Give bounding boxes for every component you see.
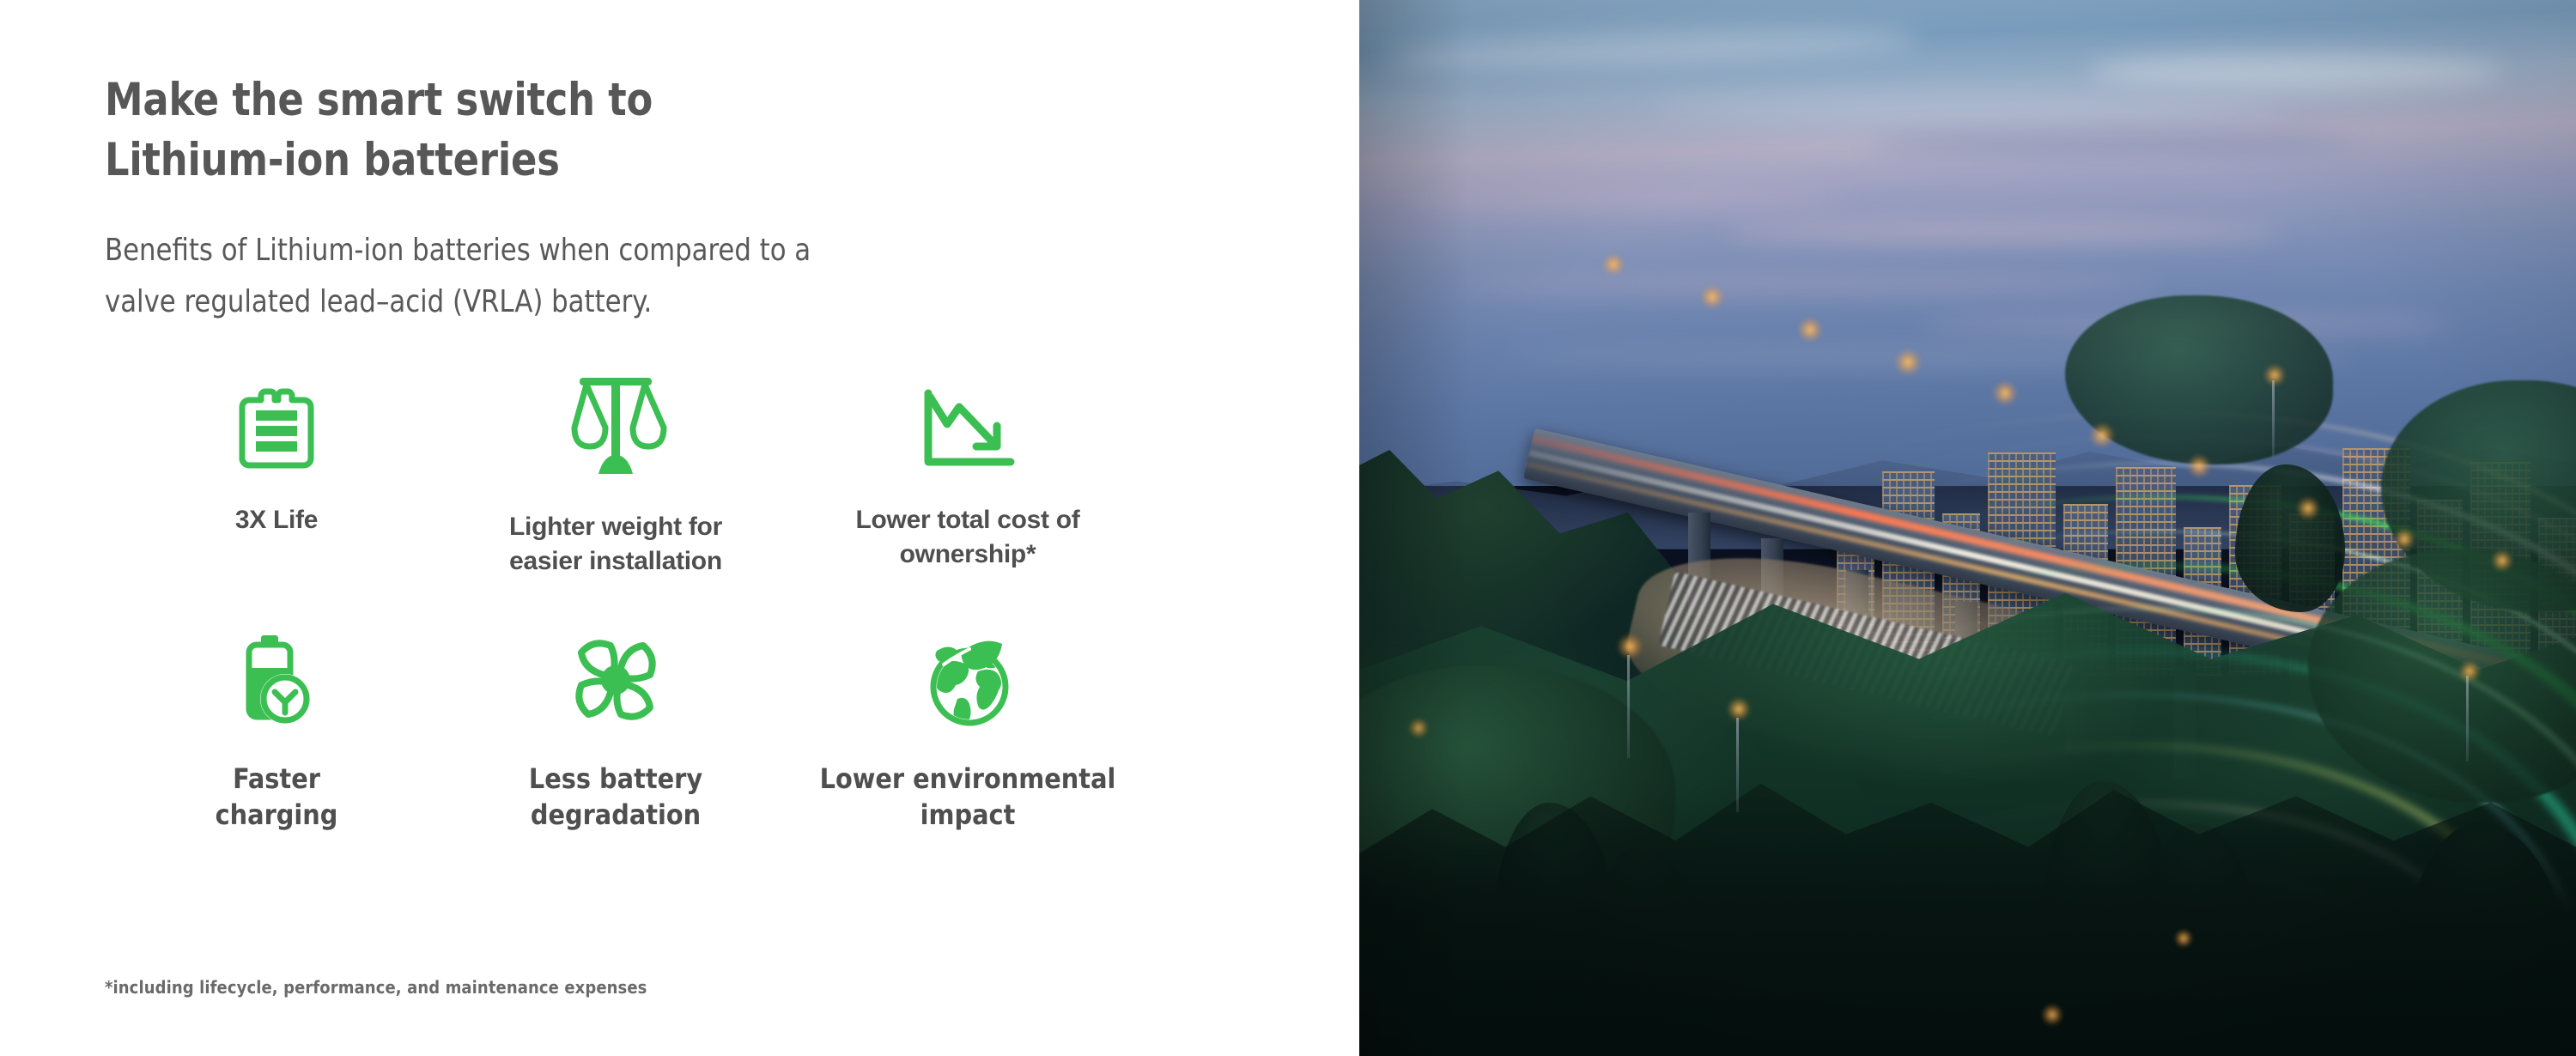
icon-container xyxy=(232,627,321,730)
benefit-item-lighter-weight: Lighter weight for easier installation xyxy=(448,369,783,578)
globe-leaf-icon xyxy=(918,634,1018,730)
battery-clock-icon xyxy=(232,634,321,730)
cloud xyxy=(1870,132,2357,155)
page-title: Make the smart switch to Lithium-ion bat… xyxy=(105,70,1073,191)
subtitle-text: Benefits of Lithium-ion batteries when c… xyxy=(105,225,1067,329)
cloud xyxy=(2089,53,2503,89)
icon-container xyxy=(566,627,665,730)
content-panel: Make the smart switch to Lithium-ion bat… xyxy=(0,0,1361,1056)
street-lamp-pole xyxy=(2466,676,2469,762)
battery-three-bars-icon xyxy=(235,383,318,472)
marketing-slide: Make the smart switch to Lithium-ion bat… xyxy=(0,0,2576,1056)
hero-photograph xyxy=(1359,0,2576,1056)
benefit-item-faster-charging: Faster charging xyxy=(105,627,448,833)
benefit-item-lower-environmental-impact: Lower environmental impact xyxy=(783,627,1152,833)
benefit-label: Lighter weight for easier installation xyxy=(509,510,722,578)
cloud xyxy=(1651,95,2284,121)
benefit-label: Lower total cost of ownership* xyxy=(856,503,1080,571)
footnote-text: *including lifecycle, performance, and m… xyxy=(105,977,647,998)
street-lamp-pole xyxy=(2272,380,2275,458)
declining-chart-arrow-icon xyxy=(918,388,1018,472)
benefits-grid: 3X Life xyxy=(105,369,1152,867)
benefit-label: Faster charging xyxy=(216,761,338,833)
icon-container xyxy=(559,369,672,479)
icon-container xyxy=(918,369,1018,472)
icon-container xyxy=(918,627,1018,730)
cloud xyxy=(1456,275,2162,294)
benefit-item-3x-life: 3X Life xyxy=(105,369,448,537)
street-lamp-pole xyxy=(1627,655,1630,758)
four-petal-flower-icon xyxy=(566,634,665,730)
balance-scale-icon xyxy=(559,371,672,479)
benefits-row-2: Faster charging xyxy=(105,627,1152,867)
street-lamp-pole xyxy=(1736,718,1739,812)
benefits-row-1: 3X Life xyxy=(105,369,1152,627)
benefit-label: 3X Life xyxy=(235,503,318,537)
benefit-label: Lower environmental impact xyxy=(820,761,1116,833)
benefit-label: Less battery degradation xyxy=(529,761,702,833)
icon-container xyxy=(235,369,318,472)
benefit-item-lower-tco: Lower total cost of ownership* xyxy=(783,369,1152,571)
benefit-item-less-degradation: Less battery degradation xyxy=(448,627,783,833)
